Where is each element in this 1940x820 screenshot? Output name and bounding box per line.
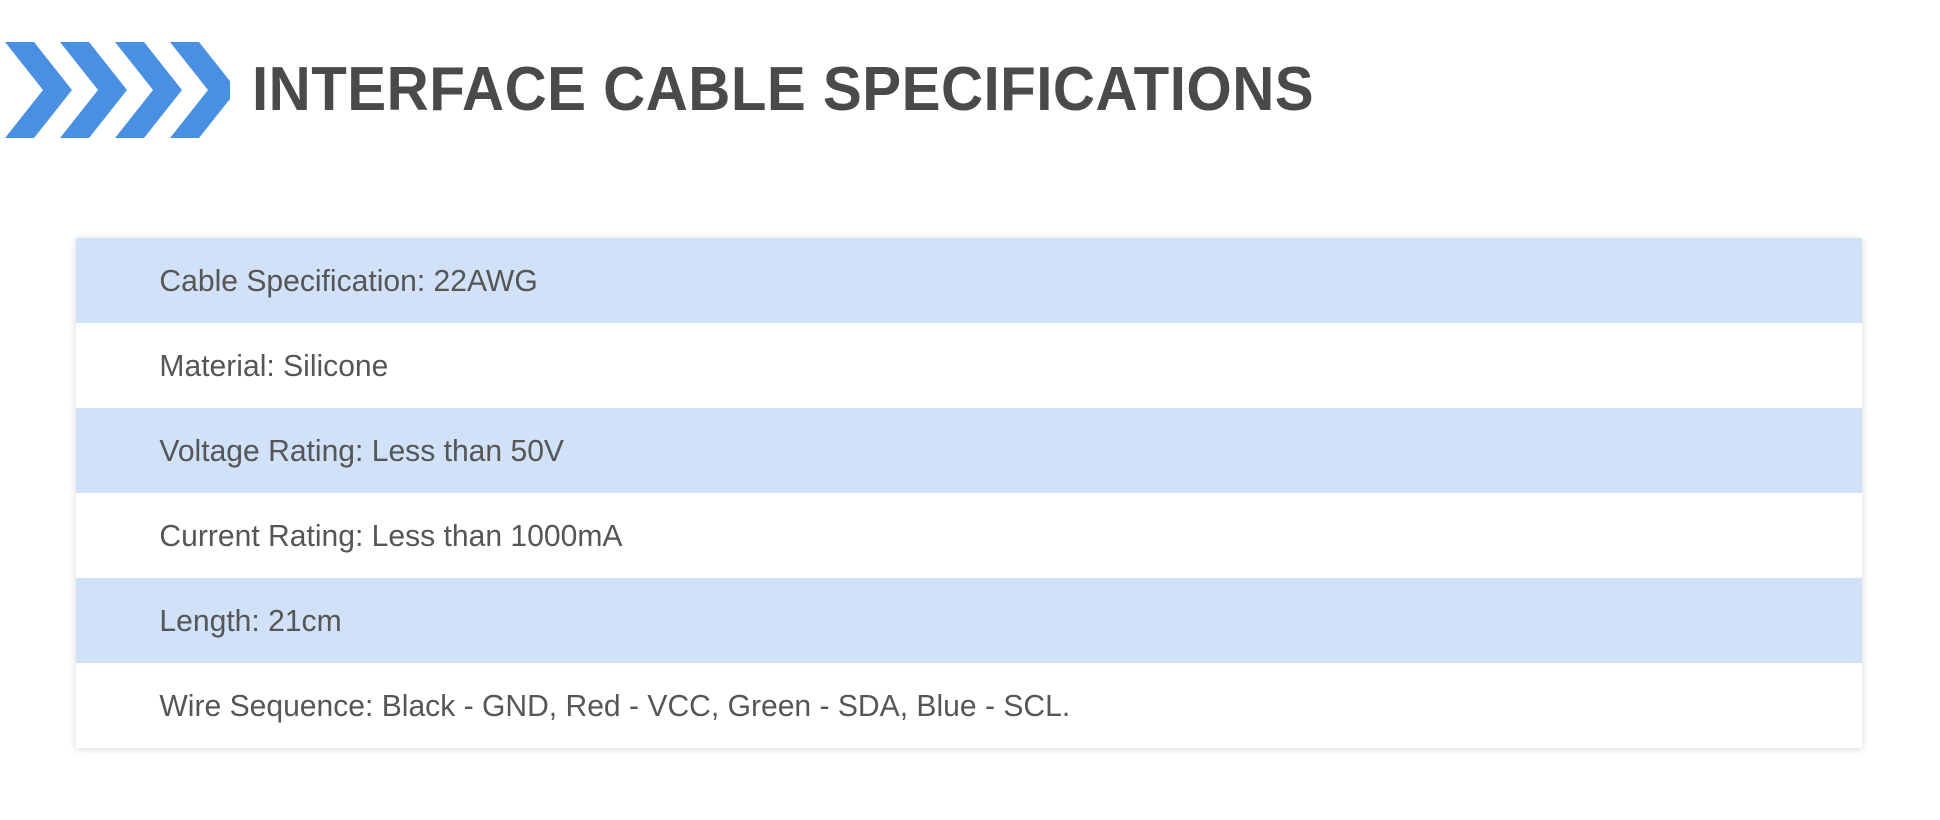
page-header: INTERFACE CABLE SPECIFICATIONS <box>0 36 1940 144</box>
spec-row-label-voltage-rating: Voltage Rating: Less than 50V <box>76 435 564 466</box>
chevrons-right-icon <box>2 42 230 138</box>
spec-table: Cable Specification: 22AWG Material: Sil… <box>76 238 1862 748</box>
table-row: Material: Silicone <box>76 323 1862 408</box>
spec-row-label-wire-sequence: Wire Sequence: Black - GND, Red - VCC, G… <box>76 690 1070 721</box>
page-title: INTERFACE CABLE SPECIFICATIONS <box>252 59 1314 121</box>
table-row: Length: 21cm <box>76 578 1862 663</box>
spec-row-label-length: Length: 21cm <box>76 605 342 636</box>
table-row: Cable Specification: 22AWG <box>76 238 1862 323</box>
table-row: Current Rating: Less than 1000mA <box>76 493 1862 578</box>
spec-row-label-cable-specification: Cable Specification: 22AWG <box>76 265 538 296</box>
table-row: Voltage Rating: Less than 50V <box>76 408 1862 493</box>
chevrons-right-icon-svg <box>2 42 230 138</box>
table-row: Wire Sequence: Black - GND, Red - VCC, G… <box>76 663 1862 748</box>
spec-row-label-current-rating: Current Rating: Less than 1000mA <box>76 520 622 551</box>
spec-row-label-material: Material: Silicone <box>76 350 388 381</box>
